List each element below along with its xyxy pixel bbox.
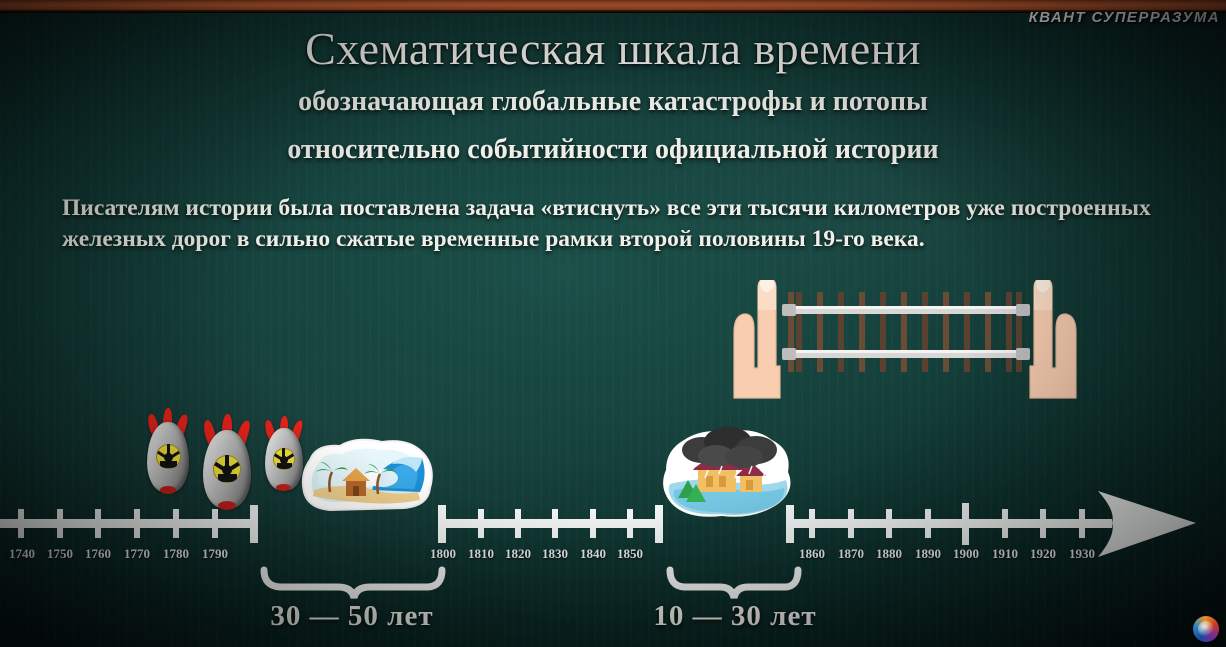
tick-label-1910: 1910 bbox=[992, 546, 1018, 562]
subtitle-line-2: относительно событийности официальной ис… bbox=[0, 134, 1226, 166]
tick-label-1760: 1760 bbox=[85, 546, 111, 562]
tick-label-1900: 1900 bbox=[953, 546, 979, 562]
brace-left-label: 30 — 50 лет bbox=[270, 600, 433, 633]
tick-label-1860: 1860 bbox=[799, 546, 825, 562]
axis-segment-3 bbox=[788, 519, 1112, 528]
subtitle-line-1: обозначающая глобальные катастрофы и пот… bbox=[0, 86, 1226, 118]
nuclear-bombs-illustration bbox=[145, 408, 320, 513]
slide-canvas: КВАНТ СУПЕРРАЗУМА Схематическая шкала вр… bbox=[0, 0, 1226, 647]
tick-label-1770: 1770 bbox=[124, 546, 150, 562]
tick-label-1840: 1840 bbox=[580, 546, 606, 562]
radiation-symbol-icon bbox=[273, 448, 295, 470]
tsunami-flood-island-icon bbox=[296, 434, 442, 516]
bomb-icon bbox=[203, 430, 251, 508]
tick-label-1830: 1830 bbox=[542, 546, 568, 562]
radiation-symbol-icon bbox=[213, 455, 241, 483]
tick-label-1780: 1780 bbox=[163, 546, 189, 562]
corner-logo bbox=[1193, 616, 1219, 642]
body-paragraph: Писателям истории была поставлена задача… bbox=[62, 193, 1167, 255]
tick-label-1880: 1880 bbox=[876, 546, 902, 562]
tick-label-1890: 1890 bbox=[915, 546, 941, 562]
tick-label-1930: 1930 bbox=[1069, 546, 1095, 562]
tick-label-1920: 1920 bbox=[1030, 546, 1056, 562]
tick-label-1850: 1850 bbox=[617, 546, 643, 562]
bomb-icon bbox=[147, 422, 189, 492]
tick-label-1790: 1790 bbox=[202, 546, 228, 562]
left-hand-icon bbox=[734, 280, 780, 398]
tick-label-1800: 1800 bbox=[430, 546, 456, 562]
tick-label-1810: 1810 bbox=[468, 546, 494, 562]
brace-right bbox=[670, 570, 798, 598]
axis-segment-2 bbox=[440, 519, 662, 528]
tick-label-1870: 1870 bbox=[838, 546, 864, 562]
page-title: Схематическая шкала времени bbox=[0, 23, 1226, 75]
tick-label-1740: 1740 bbox=[9, 546, 35, 562]
brace-right-label: 10 — 30 лет bbox=[653, 600, 816, 633]
axis-segment-1 bbox=[0, 519, 258, 528]
radiation-symbol-icon bbox=[156, 444, 181, 469]
railway-sleepers bbox=[788, 292, 1022, 372]
brace-left bbox=[264, 570, 442, 598]
right-hand-icon bbox=[1030, 280, 1076, 398]
tick-label-1820: 1820 bbox=[505, 546, 531, 562]
tick-label-1750: 1750 bbox=[47, 546, 73, 562]
axis-arrow-head bbox=[1098, 491, 1196, 557]
railway-compression-illustration bbox=[700, 280, 1110, 410]
storm-flooded-house-icon bbox=[654, 424, 802, 524]
